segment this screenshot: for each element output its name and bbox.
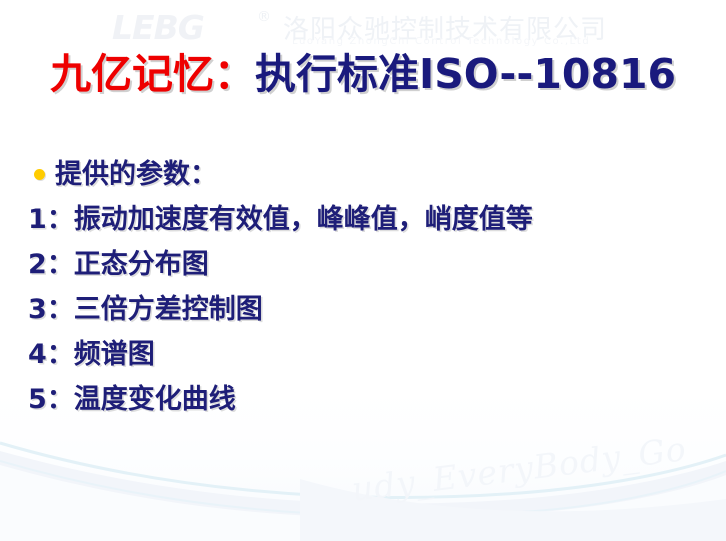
list-item-number: 1：: [28, 204, 74, 235]
slide-body: 提供的参数： 1：振动加速度有效值，峰峰值，峭度值等 2：正态分布图 3：三倍方…: [28, 152, 698, 422]
bullet-item-parameters: 提供的参数：: [28, 152, 698, 197]
company-name-en: LuoYang ZhongChi Control Technology Co.,…: [292, 36, 590, 47]
list-item: 3：三倍方差控制图: [28, 287, 698, 332]
bullet-dot-icon: [34, 169, 45, 180]
list-item-number: 4：: [28, 339, 74, 370]
wave-mid: [0, 465, 726, 541]
list-item-text: 温度变化曲线: [74, 384, 236, 415]
list-item-number: 5：: [28, 384, 74, 415]
registered-trademark-icon: ®: [257, 9, 271, 25]
list-item: 5：温度变化曲线: [28, 377, 698, 422]
wave-line-top: [0, 443, 726, 497]
list-item-text: 正态分布图: [74, 249, 209, 280]
slide-title-blue: 执行标准ISO--10816: [255, 50, 676, 98]
wave-back: [0, 451, 726, 541]
bottom-watermark-text: udy_EveryBody_Go: [350, 429, 689, 509]
lebg-logo-icon: LEBG: [112, 8, 204, 47]
list-item: 2：正态分布图: [28, 242, 698, 287]
slide-title-red: 九亿记忆：: [50, 50, 255, 98]
list-item-text: 振动加速度有效值，峰峰值，峭度值等: [74, 204, 533, 235]
presentation-slide: udy_EveryBody_Go LEBG ® 洛阳众驰控制技术有限公司 Luo…: [0, 0, 726, 541]
slide-title: 九亿记忆：执行标准ISO--10816: [0, 48, 726, 100]
list-item-number: 2：: [28, 249, 74, 280]
header-watermark: LEBG ® 洛阳众驰控制技术有限公司 LuoYang ZhongChi Con…: [0, 0, 726, 52]
bullet-item-label: 提供的参数：: [55, 152, 217, 197]
list-item: 1：振动加速度有效值，峰峰值，峭度值等: [28, 197, 698, 242]
list-item-text: 三倍方差控制图: [74, 294, 263, 325]
company-name-cn: 洛阳众驰控制技术有限公司: [283, 9, 607, 46]
decorative-waves: [0, 421, 726, 541]
wave-right: [300, 479, 726, 541]
list-item-number: 3：: [28, 294, 74, 325]
list-item: 4：频谱图: [28, 332, 698, 377]
wave-line-bottom: [0, 461, 726, 516]
list-item-text: 频谱图: [74, 339, 155, 370]
